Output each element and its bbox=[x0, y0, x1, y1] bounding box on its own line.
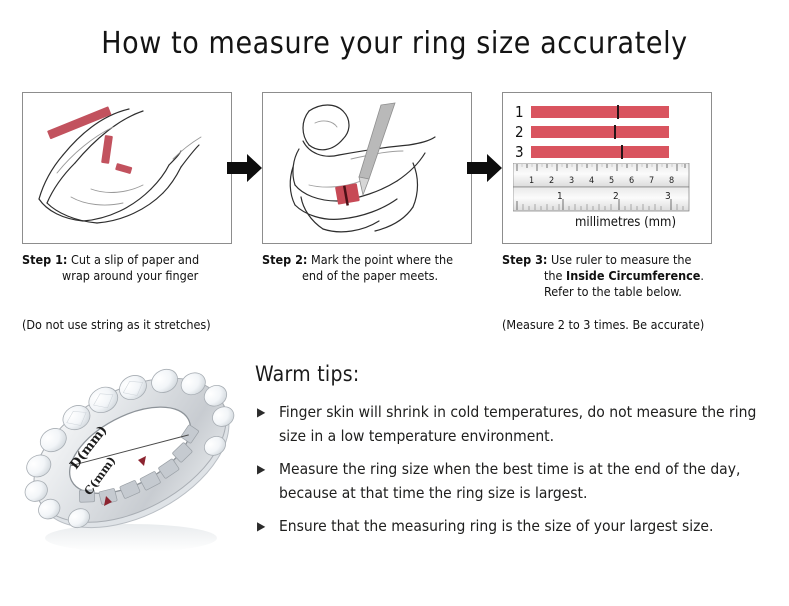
triangle-bullet-icon: ▶ bbox=[257, 400, 265, 424]
svg-text:2: 2 bbox=[613, 191, 619, 202]
hand-with-paper-strip-illustration bbox=[23, 93, 231, 243]
svg-text:5: 5 bbox=[609, 176, 614, 186]
triangle-bullet-icon: ▶ bbox=[257, 514, 265, 538]
svg-text:4: 4 bbox=[589, 176, 594, 186]
measured-strip-row-2: 2 bbox=[515, 125, 669, 139]
svg-text:3: 3 bbox=[569, 176, 574, 186]
svg-text:7: 7 bbox=[649, 176, 654, 186]
warm-tips-heading: Warm tips: bbox=[255, 362, 770, 386]
steps-row: 1 2 3 bbox=[22, 92, 767, 244]
step-2-line-2: end of the paper meets. bbox=[262, 268, 497, 284]
ring-size-guide-infographic: How to measure your ring size accurately bbox=[0, 0, 789, 606]
pen-shape bbox=[359, 103, 395, 195]
warm-tip-text-1: Finger skin will shrink in cold temperat… bbox=[279, 403, 756, 445]
warm-tips-section: Warm tips: ▶ Finger skin will shrink in … bbox=[255, 362, 770, 547]
warm-tip-text-2: Measure the ring size when the best time… bbox=[279, 460, 740, 502]
step-1-line-1: Cut a slip of paper and bbox=[71, 252, 199, 267]
strip-tick-1 bbox=[617, 105, 619, 119]
step-1-line-2: wrap around your finger bbox=[22, 268, 257, 284]
measured-strip-row-3: 3 bbox=[515, 145, 669, 159]
triangle-bullet-icon: ▶ bbox=[257, 457, 265, 481]
svg-text:2: 2 bbox=[549, 176, 554, 186]
paper-strip-red bbox=[47, 106, 132, 174]
hand-marking-paper-with-pen-illustration bbox=[263, 93, 471, 243]
strip-tick-2 bbox=[614, 125, 616, 139]
step-3-line-1: Use ruler to measure the bbox=[551, 252, 691, 267]
step-1-note: (Do not use string as it stretches) bbox=[22, 317, 211, 332]
step-1-label: Step 1: bbox=[22, 252, 67, 267]
svg-text:1: 1 bbox=[529, 176, 534, 186]
strip-tick-3 bbox=[621, 145, 623, 159]
step-2-caption: Step 2: Mark the point where the end of … bbox=[262, 252, 497, 284]
step-3-line-2-prefix: the bbox=[544, 268, 566, 283]
step-1-image-panel bbox=[22, 92, 232, 244]
paper-strip-red-mark bbox=[335, 183, 360, 206]
step-1-caption: Step 1: Cut a slip of paper and wrap aro… bbox=[22, 252, 257, 284]
svg-text:3: 3 bbox=[665, 191, 671, 202]
millimetres-unit-label: millimetres (mm) bbox=[575, 215, 676, 230]
warm-tip-item-2: ▶ Measure the ring size when the best ti… bbox=[255, 457, 770, 505]
warm-tip-text-3: Ensure that the measuring ring is the si… bbox=[279, 517, 713, 535]
arrow-right-icon-1 bbox=[225, 148, 265, 188]
step-3-line-3: Refer to the table below. bbox=[502, 284, 767, 300]
strip-bar-2 bbox=[531, 126, 669, 138]
warm-tip-item-3: ▶ Ensure that the measuring ring is the … bbox=[255, 514, 770, 538]
step-2-label: Step 2: bbox=[262, 252, 307, 267]
inside-circumference-emphasis: Inside Circumference bbox=[566, 268, 700, 283]
step-2-line-1: Mark the point where the bbox=[311, 252, 453, 267]
page-title: How to measure your ring size accurately bbox=[0, 26, 789, 61]
strip-number-3: 3 bbox=[515, 145, 531, 159]
step-3-note: (Measure 2 to 3 times. Be accurate) bbox=[502, 317, 704, 332]
strip-number-2: 2 bbox=[515, 125, 531, 139]
ring-diagram-illustration: D(mm) C(mm) bbox=[16, 352, 251, 567]
svg-text:1: 1 bbox=[557, 191, 563, 202]
svg-text:8: 8 bbox=[669, 176, 674, 186]
step-3-line-2-suffix: . bbox=[700, 268, 704, 283]
strip-bar-1 bbox=[531, 106, 669, 118]
strip-bar-3 bbox=[531, 146, 669, 158]
step-2-image-panel bbox=[262, 92, 472, 244]
measured-strip-row-1: 1 bbox=[515, 105, 669, 119]
strip-number-1: 1 bbox=[515, 105, 531, 119]
svg-text:6: 6 bbox=[629, 176, 634, 186]
step-3-caption: Step 3: Use ruler to measure the the Ins… bbox=[502, 252, 767, 300]
step-3-line-2: the Inside Circumference. bbox=[502, 268, 767, 284]
arrow-right-icon-2 bbox=[465, 148, 505, 188]
step-3-label: Step 3: bbox=[502, 252, 547, 267]
step-3-image-panel: 1 2 3 bbox=[502, 92, 712, 244]
warm-tip-item-1: ▶ Finger skin will shrink in cold temper… bbox=[255, 400, 770, 448]
ruler-icon: 123 456 78 123 bbox=[513, 163, 703, 213]
